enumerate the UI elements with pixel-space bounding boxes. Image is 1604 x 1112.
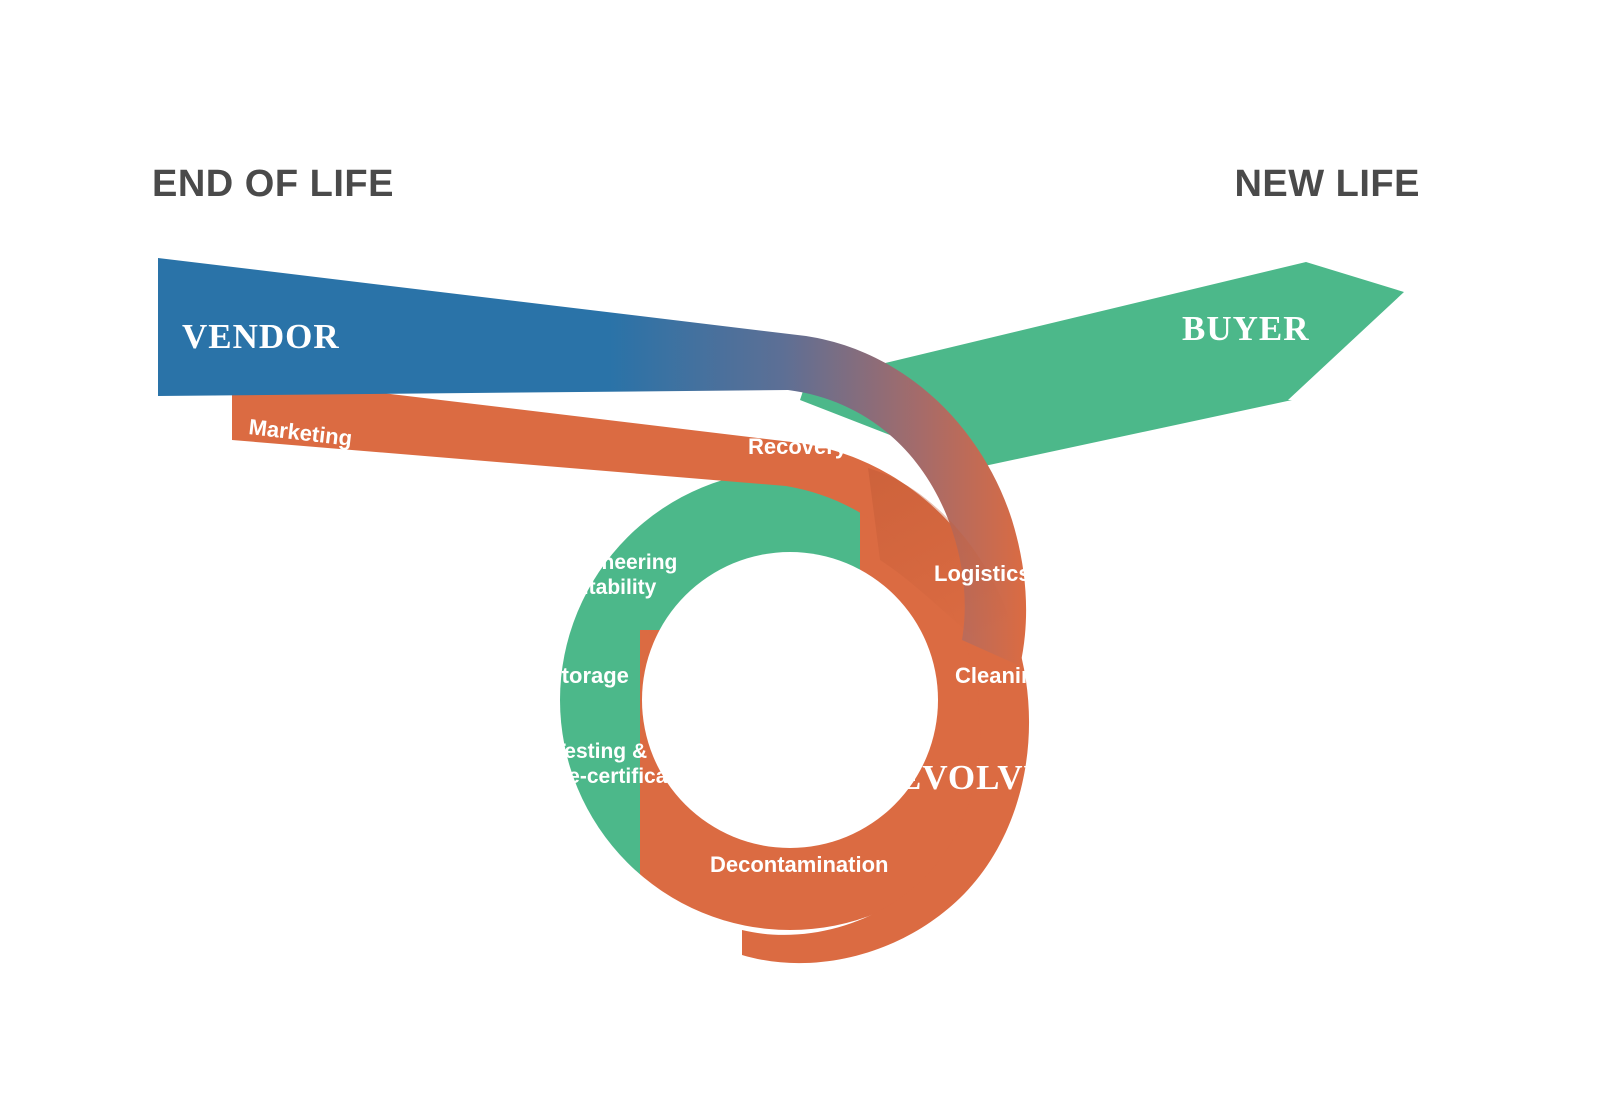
diagram-canvas: END OF LIFE NEW LIFE BUYER Marketing — [0, 0, 1604, 1112]
testing-label-line1: Testing & — [553, 740, 647, 763]
engineering-label-line2: Suitability — [556, 576, 657, 599]
vendor-label: VENDOR — [182, 317, 340, 356]
decontamination-label: Decontamination — [710, 852, 888, 877]
evolve-label: EVOLVE — [898, 758, 1048, 797]
heading-end-of-life: END OF LIFE — [152, 163, 394, 205]
storage-label: Storage — [547, 663, 629, 688]
heading-new-life: NEW LIFE — [1234, 163, 1420, 205]
engineering-label-line1: Engineering — [556, 551, 677, 574]
buyer-arrow: BUYER — [800, 262, 1404, 468]
buyer-arrow-shape — [800, 262, 1404, 468]
lifecycle-diagram: END OF LIFE NEW LIFE BUYER Marketing — [0, 0, 1604, 1112]
logistics-label: Logistics — [934, 561, 1031, 586]
testing-label-line2: Re-certification — [553, 765, 706, 788]
buyer-label: BUYER — [1182, 309, 1310, 348]
cleaning-label: Cleaning — [955, 663, 1048, 688]
recovery-label: Recovery — [748, 434, 848, 459]
